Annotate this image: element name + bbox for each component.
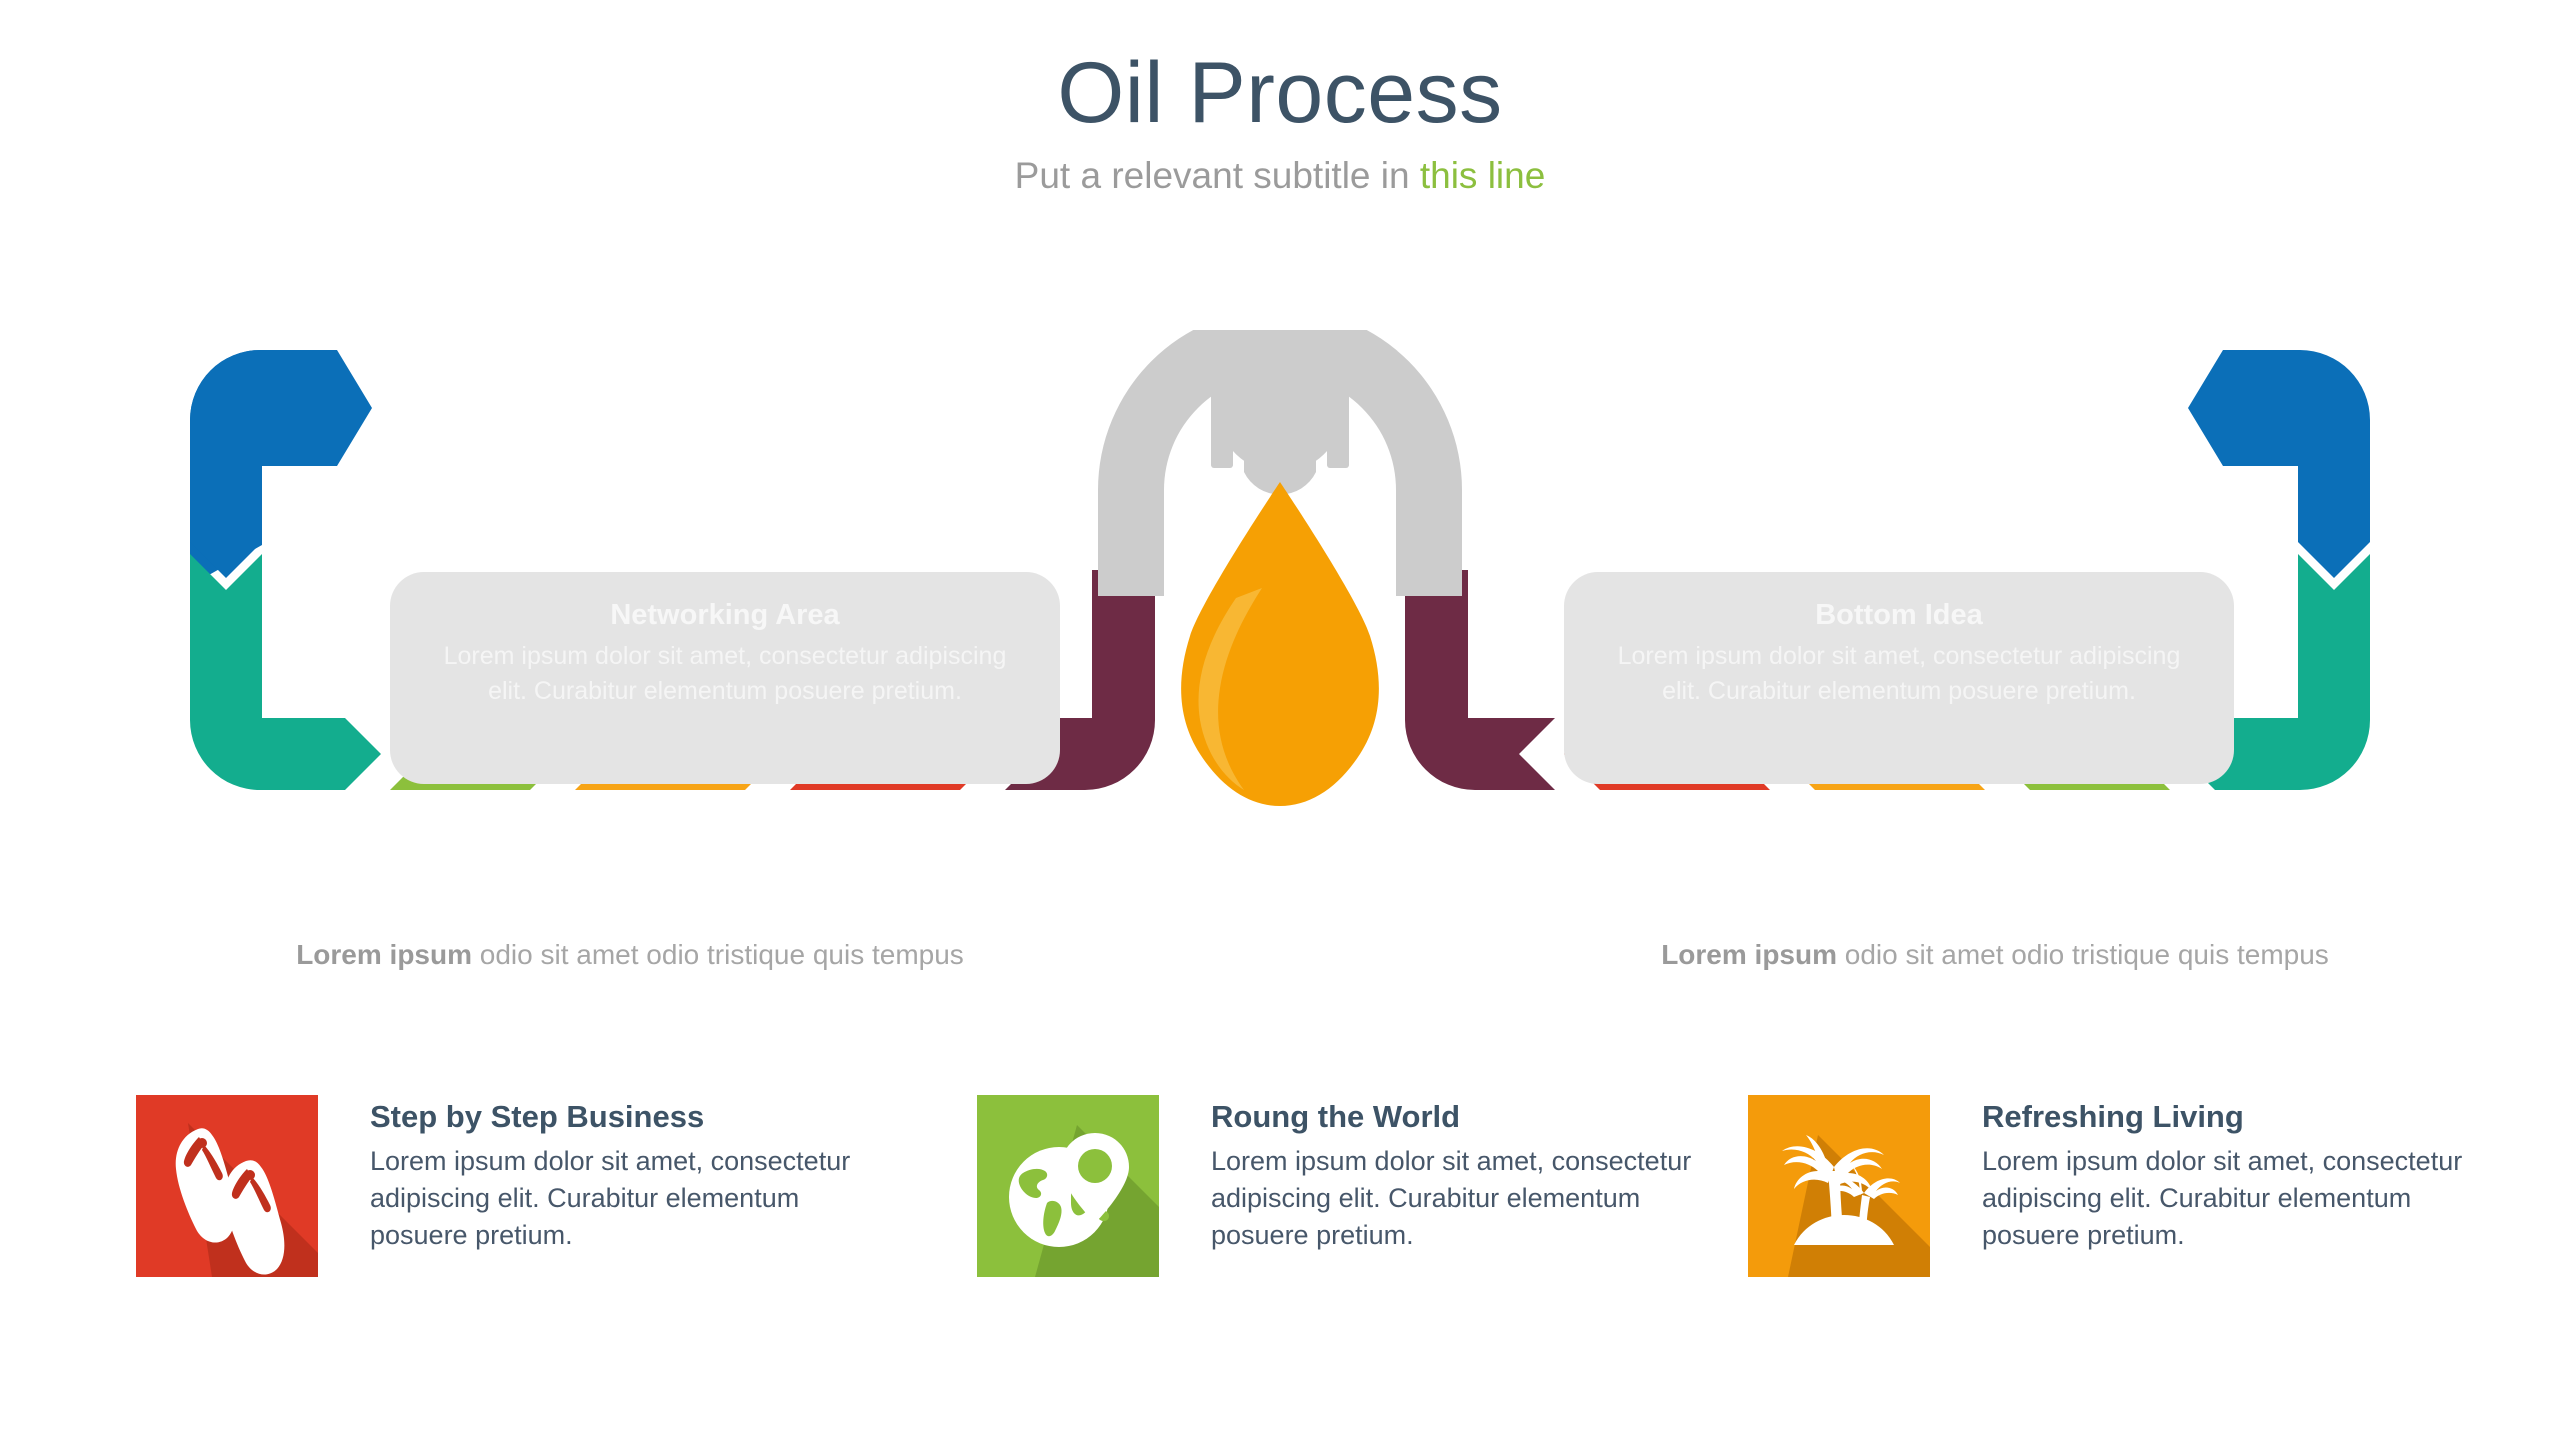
- caption-right: Lorem ipsum odio sit amet odio tristique…: [1545, 938, 2445, 972]
- step-maroon-right[interactable]: [1405, 570, 1555, 790]
- panel-body: Lorem ipsum dolor sit amet, consectetur …: [1606, 639, 2192, 710]
- caption-left: Lorem ipsum odio sit amet odio tristique…: [180, 938, 1080, 972]
- feature-item-roung-the-world[interactable]: Roung the World Lorem ipsum dolor sit am…: [977, 1095, 1721, 1277]
- page-title: Oil Process: [0, 48, 2560, 138]
- page-header: Oil Process Put a relevant subtitle in t…: [0, 48, 2560, 197]
- panel-body: Lorem ipsum dolor sit amet, consectetur …: [432, 639, 1018, 710]
- caption-bold: Lorem ipsum: [1661, 939, 1837, 970]
- page-subtitle-plain: Put a relevant subtitle in: [1015, 155, 1420, 196]
- panel-bottom-idea: Bottom Idea Lorem ipsum dolor sit amet, …: [1564, 572, 2234, 784]
- feature-title: Step by Step Business: [370, 1099, 880, 1135]
- caption-rest: odio sit amet odio tristique quis tempus: [1837, 939, 2329, 970]
- globe-map-pin-tile: [977, 1095, 1159, 1277]
- page-subtitle: Put a relevant subtitle in this line: [0, 156, 2560, 197]
- feature-item-refreshing-living[interactable]: Refreshing Living Lorem ipsum dolor sit …: [1748, 1095, 2492, 1277]
- feature-text: Step by Step Business Lorem ipsum dolor …: [370, 1095, 880, 1254]
- oil-drop-icon: [1181, 482, 1379, 806]
- flip-flops-icon: [136, 1095, 318, 1277]
- feature-body: Lorem ipsum dolor sit amet, consectetur …: [370, 1143, 880, 1255]
- feature-title: Refreshing Living: [1982, 1099, 2492, 1135]
- feature-item-step-by-step-business[interactable]: Step by Step Business Lorem ipsum dolor …: [136, 1095, 880, 1277]
- step-blue-right[interactable]: [2188, 350, 2370, 578]
- feature-title: Roung the World: [1211, 1099, 1721, 1135]
- step-teal-left[interactable]: [190, 554, 381, 790]
- page-subtitle-accent: this line: [1420, 155, 1545, 196]
- panel-networking-area: Networking Area Lorem ipsum dolor sit am…: [390, 572, 1060, 784]
- palm-island-tile: [1748, 1095, 1930, 1277]
- step-blue-left[interactable]: [190, 350, 372, 580]
- feature-text: Refreshing Living Lorem ipsum dolor sit …: [1982, 1095, 2492, 1254]
- feature-list: Step by Step Business Lorem ipsum dolor …: [0, 1095, 2560, 1325]
- caption-bold: Lorem ipsum: [296, 939, 472, 970]
- globe-map-pin-icon: [977, 1095, 1159, 1277]
- palm-island-icon: [1748, 1095, 1930, 1277]
- feature-text: Roung the World Lorem ipsum dolor sit am…: [1211, 1095, 1721, 1254]
- caption-rest: odio sit amet odio tristique quis tempus: [472, 939, 964, 970]
- flip-flops-tile: [136, 1095, 318, 1277]
- feature-body: Lorem ipsum dolor sit amet, consectetur …: [1982, 1143, 2492, 1255]
- panel-title: Bottom Idea: [1606, 598, 2192, 633]
- panel-title: Networking Area: [432, 598, 1018, 633]
- feature-body: Lorem ipsum dolor sit amet, consectetur …: [1211, 1143, 1721, 1255]
